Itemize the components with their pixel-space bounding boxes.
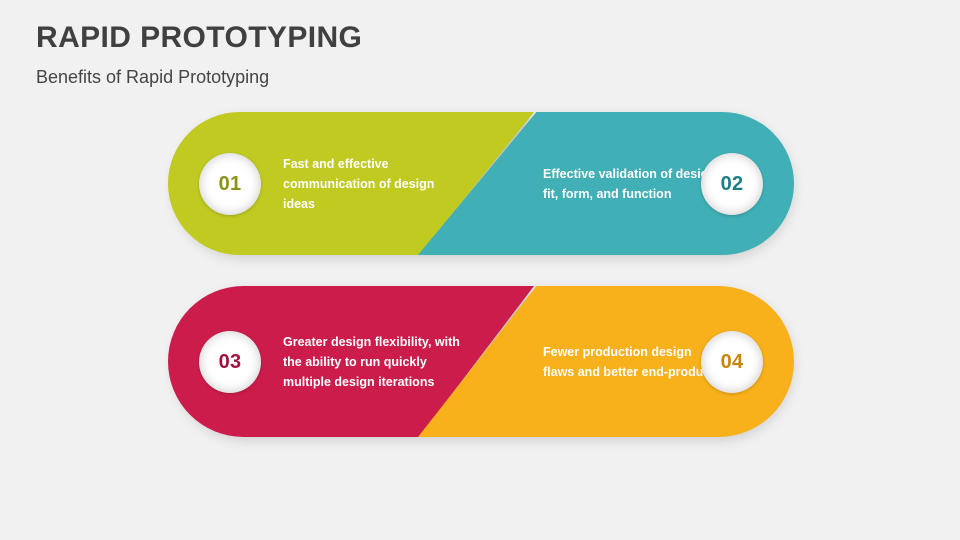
benefit-row-1: Fast and effective communication of desi…: [168, 112, 794, 255]
benefit-badge-04[interactable]: 04: [701, 331, 763, 393]
benefit-card-03-text: Greater design flexibility, with the abi…: [283, 332, 463, 392]
benefit-number-01: 01: [219, 174, 242, 194]
benefit-card-02-text: Effective validation of design fit, form…: [543, 164, 723, 204]
slide-header: RAPID PROTOTYPING Benefits of Rapid Prot…: [36, 20, 736, 89]
benefit-number-03: 03: [219, 352, 242, 372]
benefit-number-04: 04: [721, 352, 744, 372]
benefit-card-01-text: Fast and effective communication of desi…: [283, 154, 463, 214]
benefit-number-02: 02: [721, 174, 744, 194]
benefit-badge-03[interactable]: 03: [199, 331, 261, 393]
benefit-badge-02[interactable]: 02: [701, 153, 763, 215]
page-subtitle: Benefits of Rapid Prototyping: [36, 65, 736, 89]
benefit-badge-01[interactable]: 01: [199, 153, 261, 215]
benefit-row-2: Greater design flexibility, with the abi…: [168, 286, 794, 437]
benefit-card-04-text: Fewer production design flaws and better…: [543, 342, 723, 382]
page-title: RAPID PROTOTYPING: [36, 20, 736, 56]
